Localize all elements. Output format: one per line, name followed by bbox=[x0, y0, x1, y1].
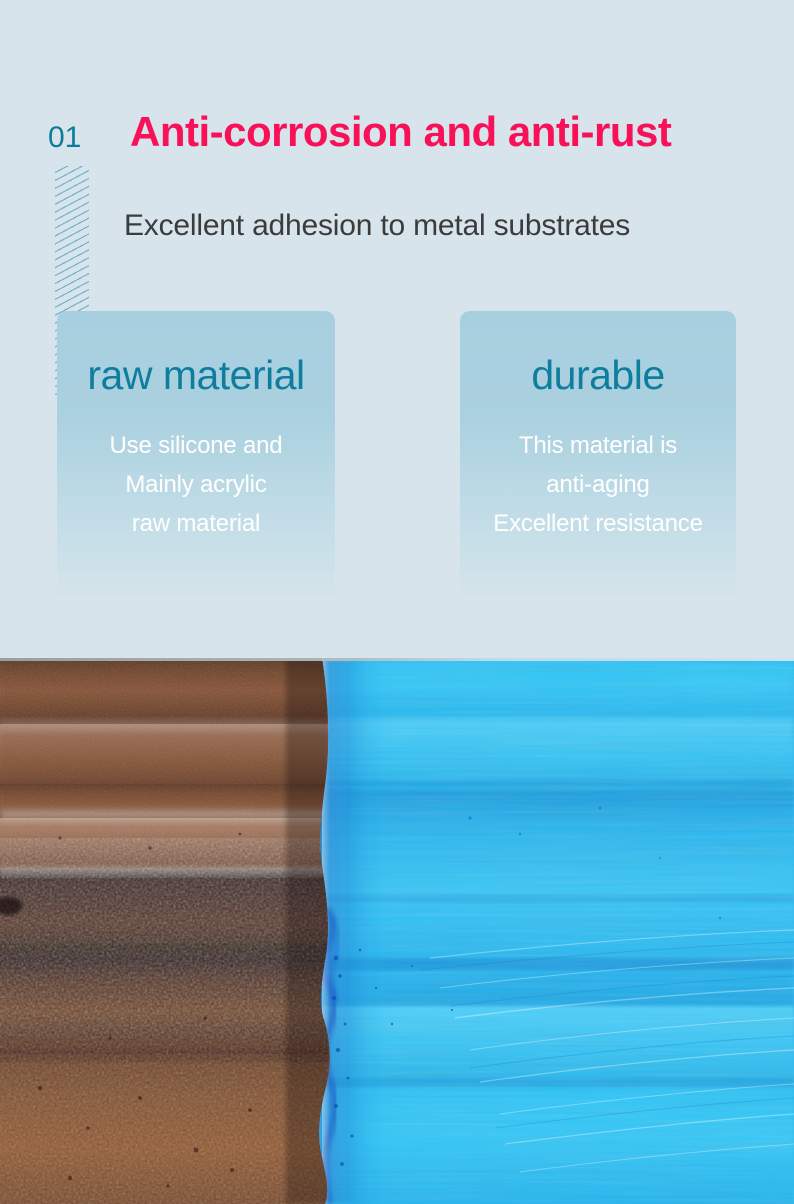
headline-row: 01 Anti-corrosion and anti-rust bbox=[0, 105, 794, 167]
photo-top-seam bbox=[0, 658, 794, 661]
rusted-metal-and-blue-paint-illustration bbox=[0, 658, 794, 1204]
product-feature-page: 01 Anti-corrosion and anti-rust Excellen… bbox=[0, 0, 794, 1204]
feature-card-title: raw material bbox=[57, 355, 335, 396]
feature-card-line: Use silicone and bbox=[57, 427, 335, 466]
feature-card-line: Excellent resistance bbox=[460, 505, 736, 544]
feature-card-line: Mainly acrylic bbox=[57, 466, 335, 505]
feature-card-title: durable bbox=[460, 355, 736, 396]
rusted-metal-region bbox=[0, 658, 340, 1204]
top-info-panel: 01 Anti-corrosion and anti-rust Excellen… bbox=[0, 0, 794, 660]
feature-card-line: This material is bbox=[460, 427, 736, 466]
feature-card-durable[interactable]: durable This material is anti-aging Exce… bbox=[460, 311, 736, 621]
feature-card-group: raw material Use silicone and Mainly acr… bbox=[0, 311, 794, 631]
feature-card-body: This material is anti-aging Excellent re… bbox=[460, 427, 736, 544]
feature-card-line: anti-aging bbox=[460, 466, 736, 505]
page-title: Anti-corrosion and anti-rust bbox=[130, 105, 671, 160]
feature-card-body: Use silicone and Mainly acrylic raw mate… bbox=[57, 427, 335, 544]
blue-paint-region bbox=[300, 658, 794, 1204]
page-subtitle: Excellent adhesion to metal substrates bbox=[124, 209, 630, 243]
feature-card-line: raw material bbox=[57, 505, 335, 544]
feature-card-raw-material[interactable]: raw material Use silicone and Mainly acr… bbox=[57, 311, 335, 621]
feature-index-number: 01 bbox=[48, 123, 81, 153]
product-photo bbox=[0, 658, 794, 1204]
